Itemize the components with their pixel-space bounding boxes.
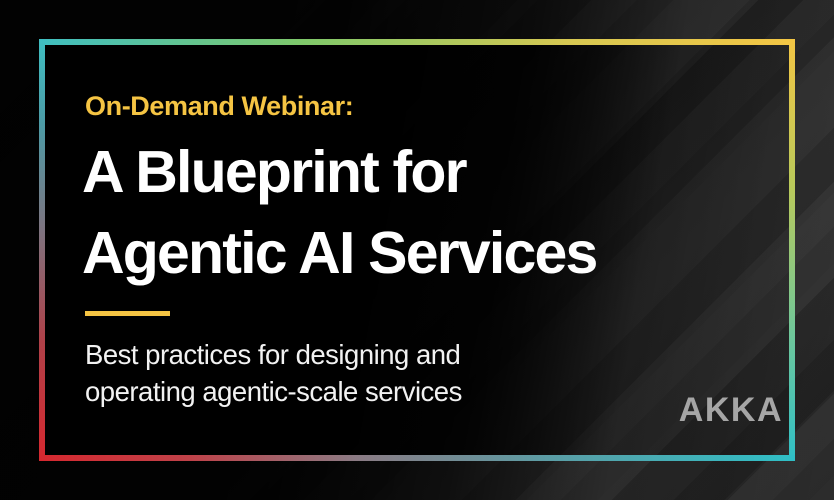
- eyebrow-label: On-Demand Webinar:: [85, 92, 353, 122]
- subtitle-line-2: operating agentic-scale services: [85, 373, 462, 410]
- banner-content: On-Demand Webinar: A Blueprint for Agent…: [85, 0, 745, 500]
- akka-logo: AKKA: [679, 393, 783, 427]
- headline-line-1: A Blueprint for: [82, 132, 597, 213]
- headline-line-2: Agentic AI Services: [82, 213, 597, 294]
- page-title: A Blueprint for Agentic AI Services: [82, 132, 597, 294]
- subtitle: Best practices for designing and operati…: [85, 336, 462, 410]
- subtitle-line-1: Best practices for designing and: [85, 336, 462, 373]
- accent-divider: [85, 311, 170, 316]
- promo-banner: On-Demand Webinar: A Blueprint for Agent…: [0, 0, 834, 500]
